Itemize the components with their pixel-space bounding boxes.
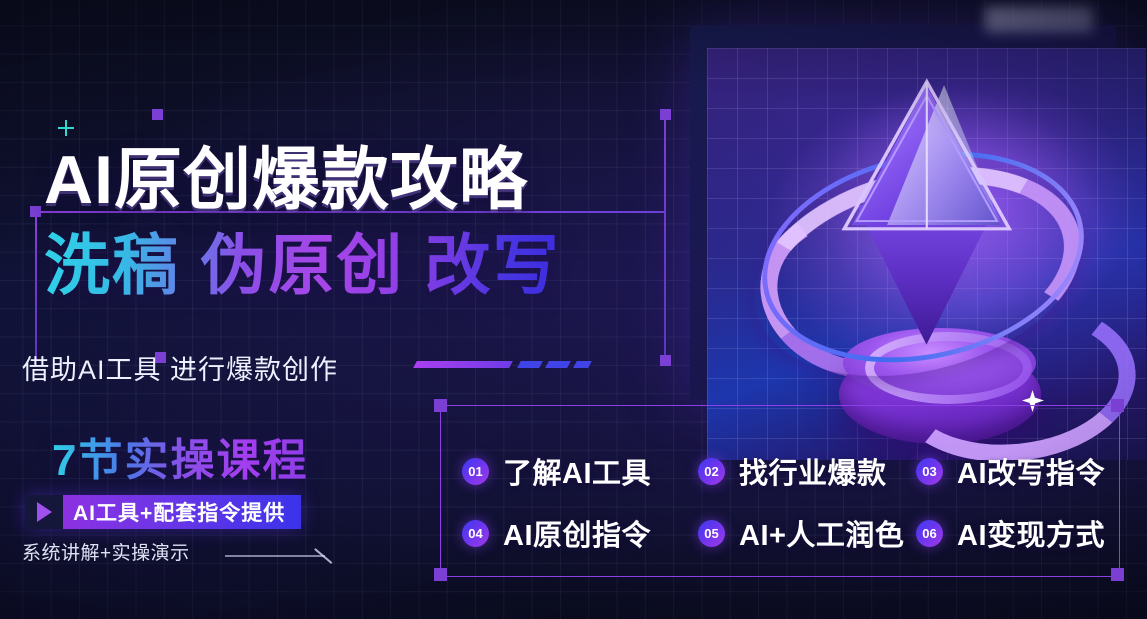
list-item[interactable]: 02 找行业爆款 <box>698 450 916 492</box>
play-triangle-icon <box>25 495 63 529</box>
item-label: AI变现方式 <box>957 512 1105 554</box>
list-item[interactable]: 06 AI变现方式 <box>916 512 1112 554</box>
item-label: AI+人工润色 <box>739 512 904 554</box>
list-item[interactable]: 04 AI原创指令 <box>462 512 698 554</box>
headline-sub: 洗稿 伪原创 改写 <box>44 212 561 308</box>
footnote-text: 系统讲解+实操演示 <box>22 538 190 565</box>
offer-badge[interactable]: AI工具+配套指令提供 <box>25 495 301 529</box>
item-label: AI原创指令 <box>503 512 651 554</box>
corner-marker <box>660 355 671 366</box>
tagline-text: 借助AI工具 进行爆款创作 <box>22 348 338 387</box>
corner-marker <box>1111 568 1124 581</box>
headline-frame-right <box>664 113 666 363</box>
curriculum-row: 04 AI原创指令 05 AI+人工润色 06 AI变现方式 <box>462 502 1112 564</box>
item-number: 03 <box>916 458 943 485</box>
item-number: 05 <box>698 520 725 547</box>
list-item[interactable]: 01 了解AI工具 <box>462 450 698 492</box>
dashed-accent-line <box>415 358 590 372</box>
course-count-text: 7节实操课程 <box>52 424 308 488</box>
dash-segment <box>413 361 513 368</box>
dash-segment <box>545 361 571 368</box>
list-item[interactable]: 03 AI改写指令 <box>916 450 1112 492</box>
arrow-right-icon <box>225 548 337 564</box>
poster-canvas: AI原创爆款攻略 洗稿 伪原创 改写 借助AI工具 进行爆款创作 7节实操课程 … <box>0 0 1147 619</box>
item-number: 04 <box>462 520 489 547</box>
dash-segment <box>517 361 543 368</box>
curriculum-row: 01 了解AI工具 02 找行业爆款 03 AI改写指令 <box>462 440 1112 502</box>
offer-badge-label: AI工具+配套指令提供 <box>63 495 301 529</box>
item-number: 01 <box>462 458 489 485</box>
item-label: 找行业爆款 <box>739 450 887 492</box>
item-label: AI改写指令 <box>957 450 1105 492</box>
item-label: 了解AI工具 <box>503 450 651 492</box>
headline-main: AI原创爆款攻略 <box>44 124 528 223</box>
list-item[interactable]: 05 AI+人工润色 <box>698 512 916 554</box>
item-number: 02 <box>698 458 725 485</box>
corner-marker <box>1111 399 1124 412</box>
corner-marker <box>434 568 447 581</box>
dash-segment <box>573 361 592 368</box>
corner-marker <box>660 109 671 120</box>
item-number: 06 <box>916 520 943 547</box>
headline-frame-left <box>35 211 37 361</box>
corner-marker <box>434 399 447 412</box>
corner-marker <box>30 206 41 217</box>
curriculum-list: 01 了解AI工具 02 找行业爆款 03 AI改写指令 04 AI原创指令 0… <box>462 440 1112 564</box>
corner-marker <box>152 109 163 120</box>
